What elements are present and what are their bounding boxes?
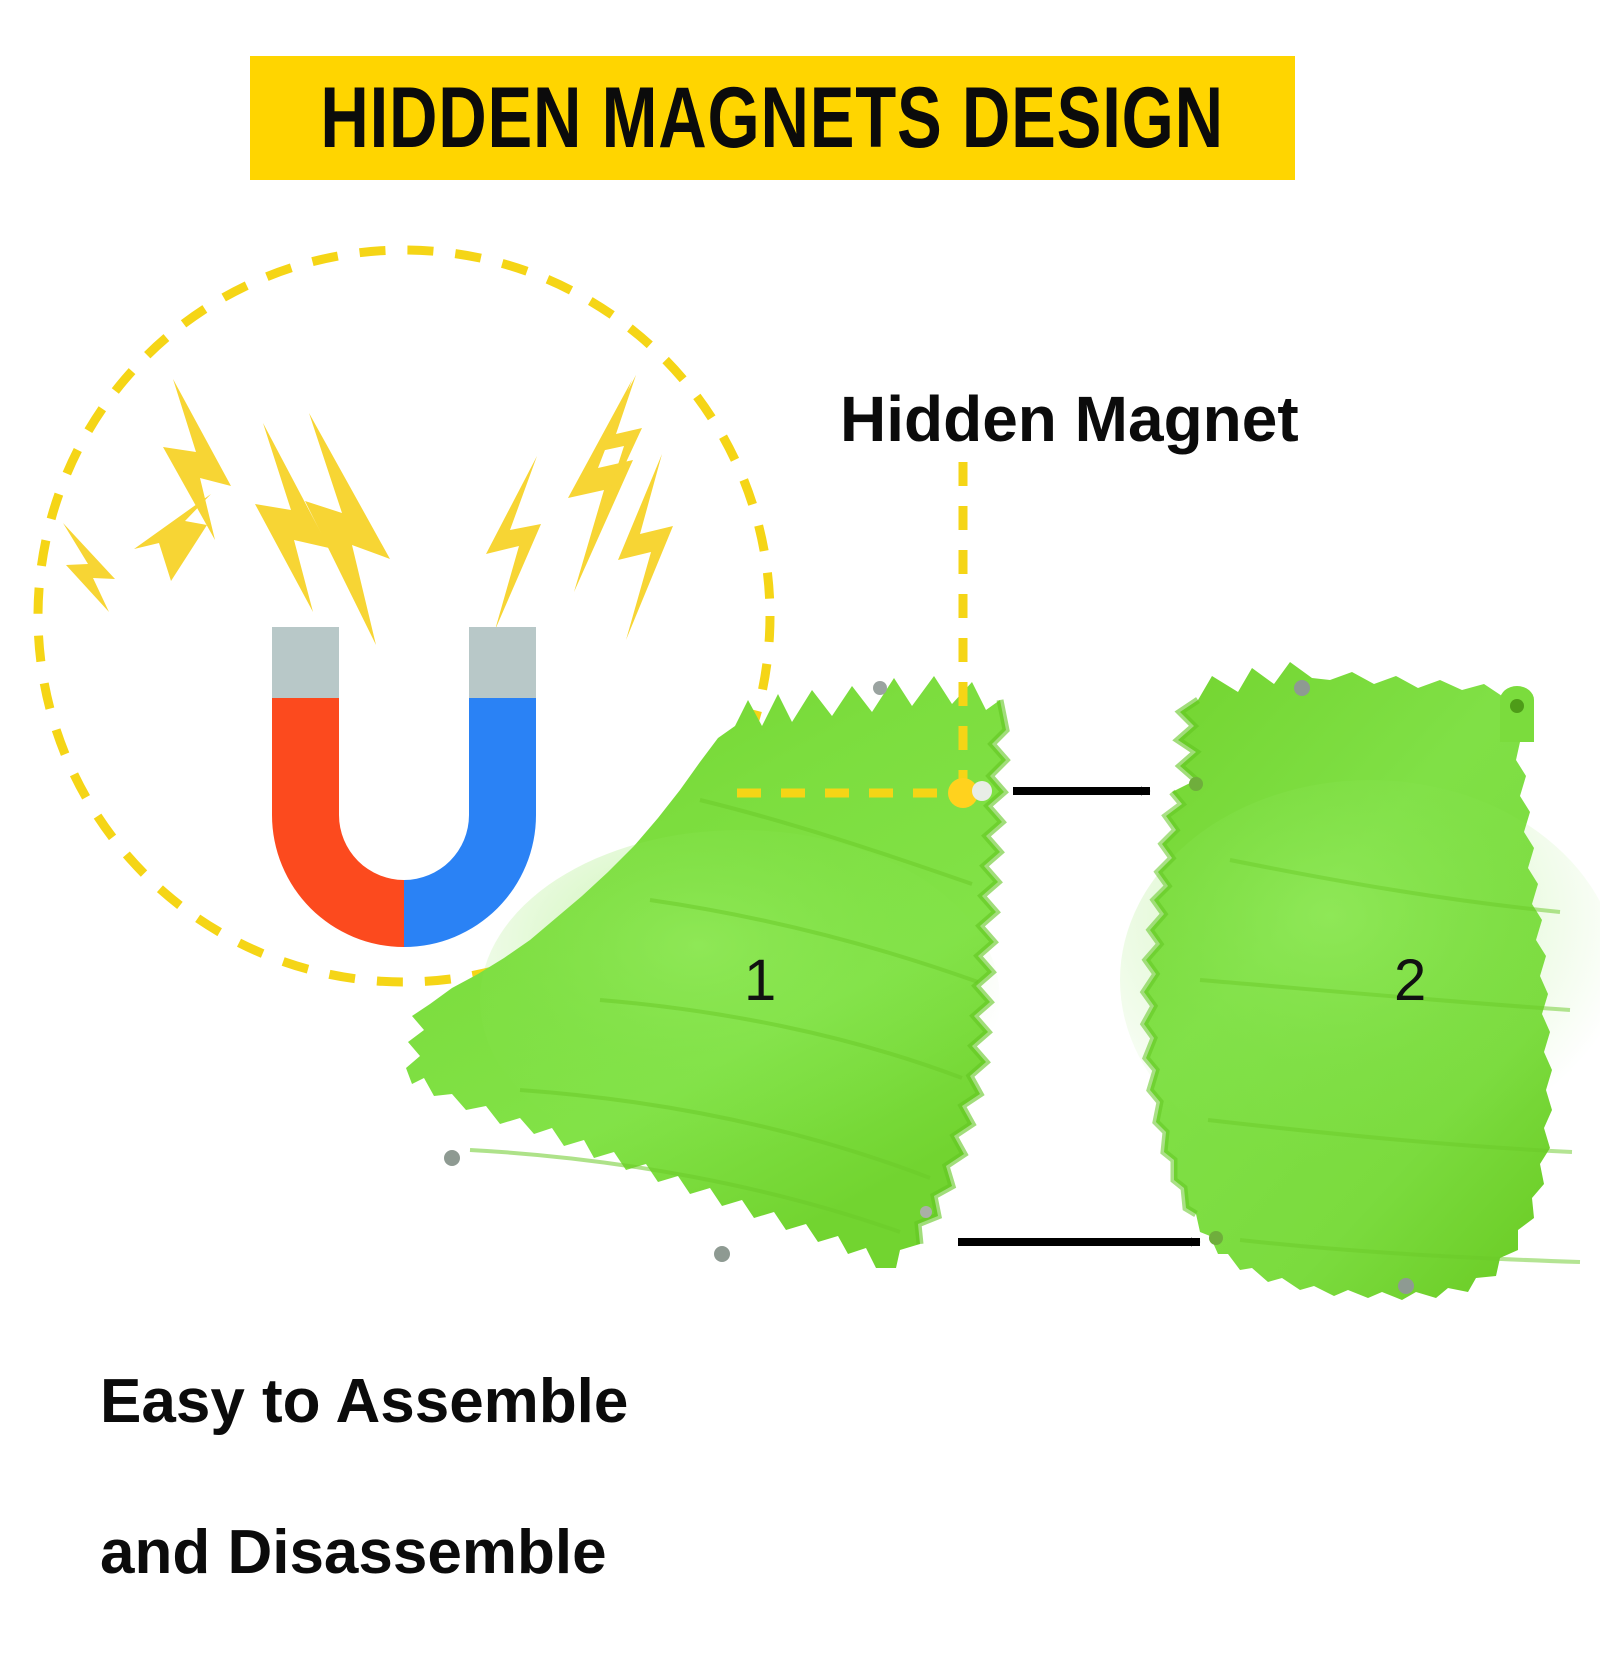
infographic-canvas: HIDDEN MAGNETS DESIGN	[0, 0, 1600, 1600]
leaf-piece-right-sheen	[1120, 780, 1600, 1180]
spark-bolt-right-inner	[486, 456, 541, 630]
magnet-north-arm	[272, 698, 404, 947]
title-banner: HIDDEN MAGNETS DESIGN	[250, 56, 1295, 180]
piece-number-1: 1	[744, 952, 776, 1010]
horseshoe-magnet-icon	[272, 627, 536, 947]
spark-bolt-left-mid	[255, 423, 329, 612]
leaf-piece-right-nub-hole	[1510, 699, 1524, 713]
magnet-tip-left	[272, 627, 339, 698]
leaf-piece-right	[1120, 662, 1600, 1300]
spark-bolts-group	[63, 375, 673, 645]
magnet-dot-left-edge	[920, 1206, 932, 1218]
spark-bolt-right-tall	[568, 380, 633, 592]
spark-bolt-right-outer	[596, 375, 642, 514]
piece-number-2: 2	[1394, 952, 1426, 1010]
leaf-piece-left-rim	[918, 700, 1006, 1244]
footer-caption-line-2: and Disassemble	[100, 1515, 628, 1591]
assembly-arrows	[958, 791, 1200, 1242]
footer-caption: Easy to Assemble and Disassemble	[100, 1288, 628, 1666]
spark-bolt-center-left	[305, 413, 390, 645]
leaf-piece-left	[406, 676, 1006, 1268]
magnifier-dashed-circle	[38, 250, 770, 982]
hidden-magnet-dot	[948, 778, 978, 808]
spark-bolt-left-low	[63, 523, 115, 612]
spark-bolt-right-mid	[618, 454, 673, 640]
magnet-socket-right-upper	[1189, 777, 1203, 791]
leaf-piece-right-shape	[1144, 662, 1552, 1300]
leaf-piece-right-rim	[1178, 700, 1198, 780]
hidden-magnet-leader	[737, 462, 963, 793]
magnet-dot-left-top	[873, 681, 887, 695]
magnet-tip-right	[469, 627, 536, 698]
magnet-dot-left-bottom	[714, 1246, 730, 1262]
leaf-piece-left-sheen	[480, 830, 1000, 1170]
leaf-piece-right-rim-lower	[1144, 792, 1196, 1214]
hidden-magnet-dot-pair	[972, 781, 992, 801]
magnet-dot-left-lower	[444, 1150, 460, 1166]
magnet-socket-right-bottom	[1398, 1278, 1414, 1294]
footer-caption-line-1: Easy to Assemble	[100, 1364, 628, 1440]
spark-bolt-left-inner	[134, 494, 211, 581]
magnet-socket-right-lower	[1209, 1231, 1223, 1245]
spark-bolt-left-outer	[163, 379, 231, 540]
leaf-piece-right-nub	[1500, 686, 1534, 742]
magnet-south-arm	[404, 698, 536, 947]
page-title: HIDDEN MAGNETS DESIGN	[321, 75, 1224, 161]
magnet-socket-right-top	[1294, 680, 1310, 696]
leaf-piece-left-veins	[470, 800, 978, 1232]
leaf-piece-left-shape	[406, 676, 1006, 1268]
leaf-piece-right-veins	[1200, 860, 1580, 1262]
hidden-magnet-label: Hidden Magnet	[840, 386, 1299, 453]
